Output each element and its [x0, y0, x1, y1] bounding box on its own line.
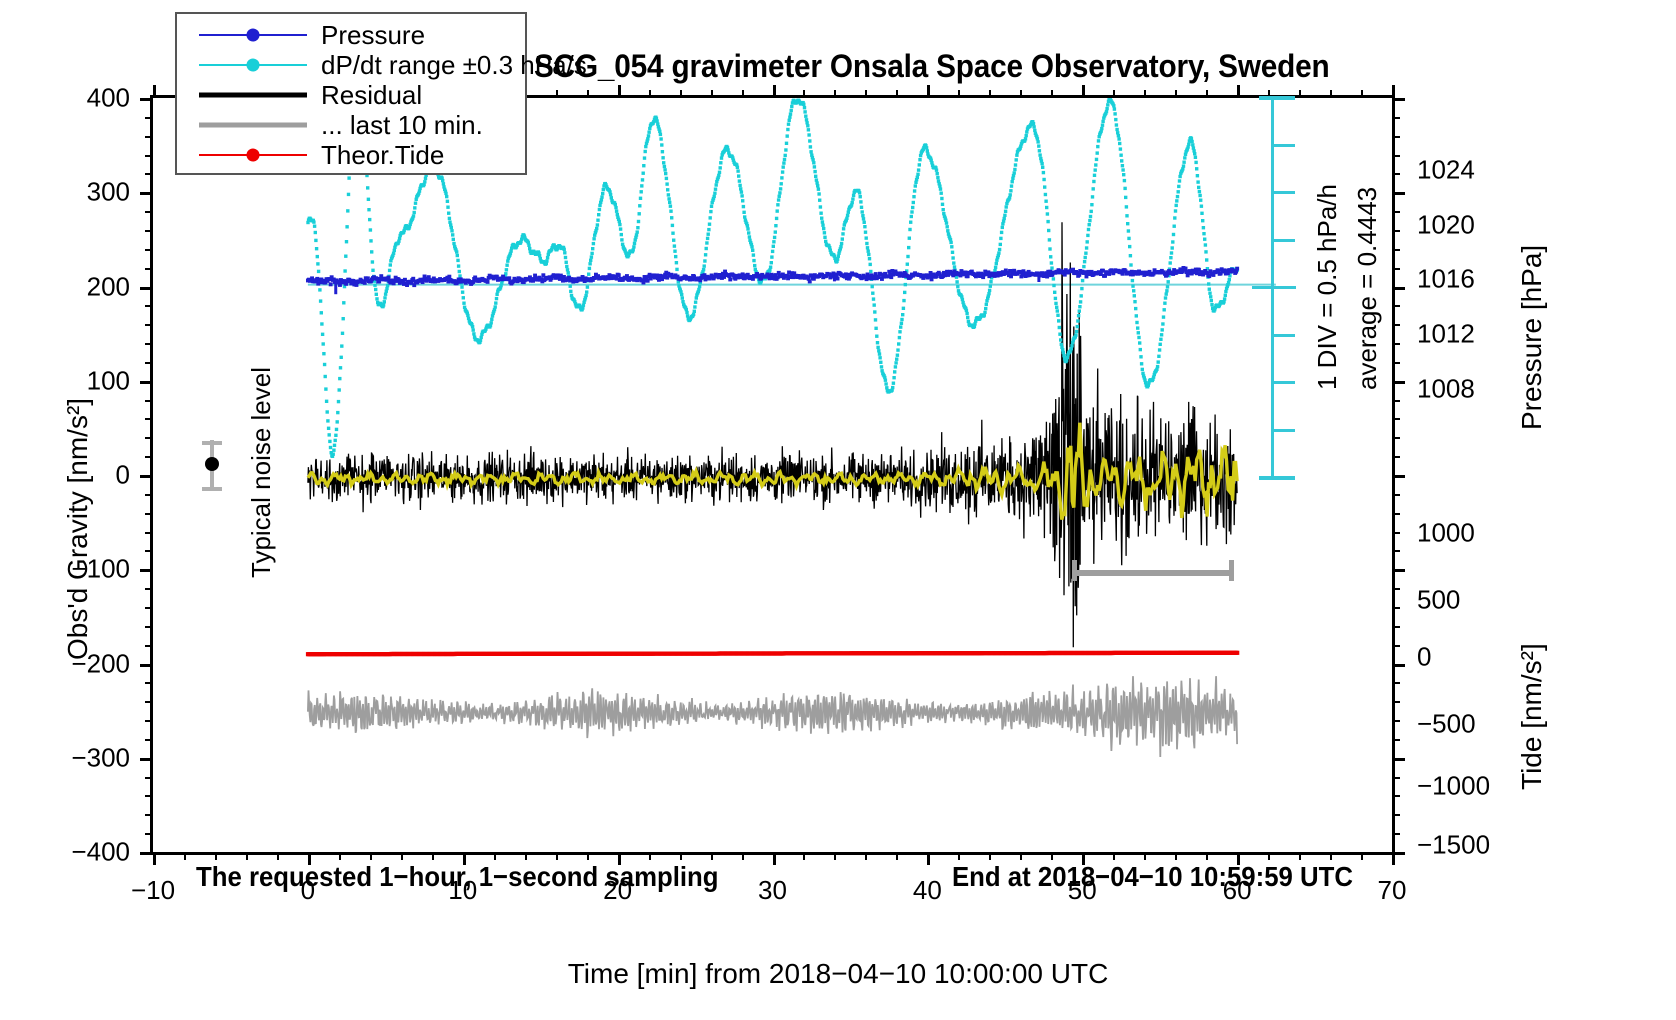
- left-tick-label: 0: [116, 460, 130, 491]
- bottom-tick-label: 30: [758, 875, 787, 906]
- bottom-axis-title: Time [min] from 2018−04−10 10:00:00 UTC: [568, 958, 1109, 990]
- div-scale-tick: [1259, 476, 1295, 480]
- left-tick-label: 400: [87, 83, 130, 114]
- tide-tick-label: 1000: [1417, 518, 1475, 549]
- series-residual: [308, 222, 1237, 647]
- last10-bar-cap-right: [1229, 560, 1234, 581]
- series-theor-tide: [306, 651, 1239, 657]
- tide-axis-title: Tide [nm/s²]: [1516, 643, 1548, 790]
- page-title: SCG_054 gravimeter Onsala Space Observat…: [534, 48, 1330, 85]
- data-traces: [153, 98, 1392, 852]
- div-scale-tick: [1271, 191, 1295, 194]
- legend-item[interactable]: Theor.Tide: [199, 140, 525, 170]
- legend-item[interactable]: dP/dt range ±0.3 hPa/s: [199, 50, 525, 80]
- legend-label: Residual: [321, 80, 422, 111]
- series-last10-min: [308, 676, 1237, 757]
- legend-swatch-icon: [199, 114, 307, 136]
- tide-tick-label: 0: [1417, 642, 1431, 673]
- div-scale-tick: [1259, 96, 1295, 100]
- legend-label: Theor.Tide: [321, 140, 444, 171]
- legend-swatch-icon: [199, 54, 307, 76]
- pressure-tick-label: 1020: [1417, 209, 1475, 240]
- legend-swatch-icon: [199, 84, 307, 106]
- pressure-axis-title: Pressure [hPa]: [1516, 245, 1548, 430]
- pressure-tick-label: 1024: [1417, 155, 1475, 186]
- legend-item[interactable]: Residual: [199, 80, 525, 110]
- tide-tick-label: −1000: [1417, 771, 1490, 802]
- bottom-tick-label: −10: [131, 875, 175, 906]
- average-label: average = 0.4443: [1352, 187, 1383, 390]
- div-scale-center-tick: [1252, 286, 1296, 289]
- legend-label: Pressure: [321, 20, 425, 51]
- div-scale-tick: [1271, 381, 1295, 384]
- legend-item[interactable]: Pressure: [199, 20, 525, 50]
- legend: PressuredP/dt range ±0.3 hPa/sResidual..…: [175, 12, 527, 175]
- left-tick-label: −300: [71, 742, 130, 773]
- plot-area: [150, 95, 1395, 855]
- pressure-tick-label: 1012: [1417, 319, 1475, 350]
- legend-swatch-icon: [199, 24, 307, 46]
- series-pressure: [306, 266, 1239, 294]
- last10-span-bar: [1072, 570, 1232, 576]
- div-scale-tick: [1271, 144, 1295, 147]
- tide-tick-label: 500: [1417, 585, 1460, 616]
- div-scale-tick: [1271, 334, 1295, 337]
- left-tick-label: −400: [71, 837, 130, 868]
- bottom-tick-label: 40: [913, 875, 942, 906]
- legend-label: ... last 10 min.: [321, 110, 483, 141]
- legend-label: dP/dt range ±0.3 hPa/s: [321, 50, 587, 81]
- pressure-tick-label: 1016: [1417, 264, 1475, 295]
- div-scale-tick: [1271, 429, 1295, 432]
- footer-sampling-note: The requested 1−hour, 1−second sampling: [196, 861, 719, 893]
- legend-swatch-icon: [199, 144, 307, 166]
- noise-level-label: Typical noise level: [246, 367, 277, 578]
- legend-item[interactable]: ... last 10 min.: [199, 110, 525, 140]
- noise-errorbar-cap-bottom: [202, 487, 222, 491]
- tide-tick-label: −500: [1417, 709, 1476, 740]
- noise-level-dot: [205, 457, 219, 471]
- left-axis-title: Obs'd Gravity [nm/s²]: [62, 398, 94, 660]
- tide-tick-label: −1500: [1417, 830, 1490, 861]
- gravimeter-plot-page: SCG_054 gravimeter Onsala Space Observat…: [0, 0, 1676, 1020]
- footer-end-time: End at 2018−04−10 10:59:59 UTC: [952, 861, 1353, 893]
- div-scale-tick: [1271, 239, 1295, 242]
- pressure-tick-label: 1008: [1417, 373, 1475, 404]
- left-tick-label: 300: [87, 177, 130, 208]
- left-tick-label: 100: [87, 365, 130, 396]
- bottom-tick-label: 70: [1378, 875, 1407, 906]
- div-scale-label: 1 DIV = 0.5 hPa/h: [1312, 184, 1343, 390]
- left-tick-label: 200: [87, 271, 130, 302]
